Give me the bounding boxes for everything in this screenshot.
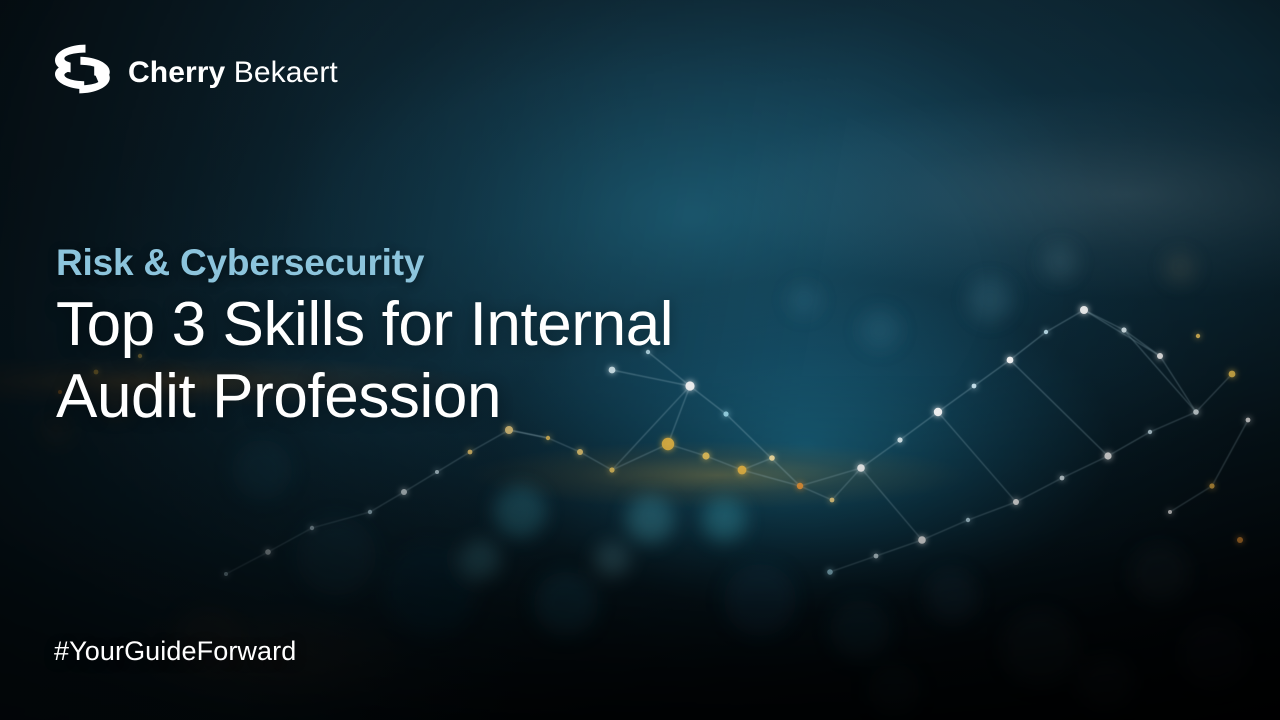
headline-block: Risk & Cybersecurity Top 3 Skills for In… — [56, 243, 896, 433]
page-title-line-1: Top 3 Skills for Internal — [56, 289, 896, 361]
page-title: Top 3 Skills for Internal Audit Professi… — [56, 289, 896, 433]
title-card-slide: Cherry Bekaert Risk & Cybersecurity Top … — [0, 0, 1280, 720]
wordmark-bekaert: Bekaert — [234, 56, 338, 89]
cherry-bekaert-logo-mark-icon — [52, 42, 112, 104]
cherry-bekaert-logo: Cherry Bekaert — [52, 42, 338, 104]
wordmark-cherry: Cherry — [128, 56, 225, 89]
campaign-hashtag: #YourGuideForward — [54, 636, 296, 667]
page-title-line-2: Audit Profession — [56, 361, 896, 433]
cherry-bekaert-wordmark: Cherry Bekaert — [128, 58, 338, 88]
eyebrow-category-label: Risk & Cybersecurity — [56, 243, 896, 283]
